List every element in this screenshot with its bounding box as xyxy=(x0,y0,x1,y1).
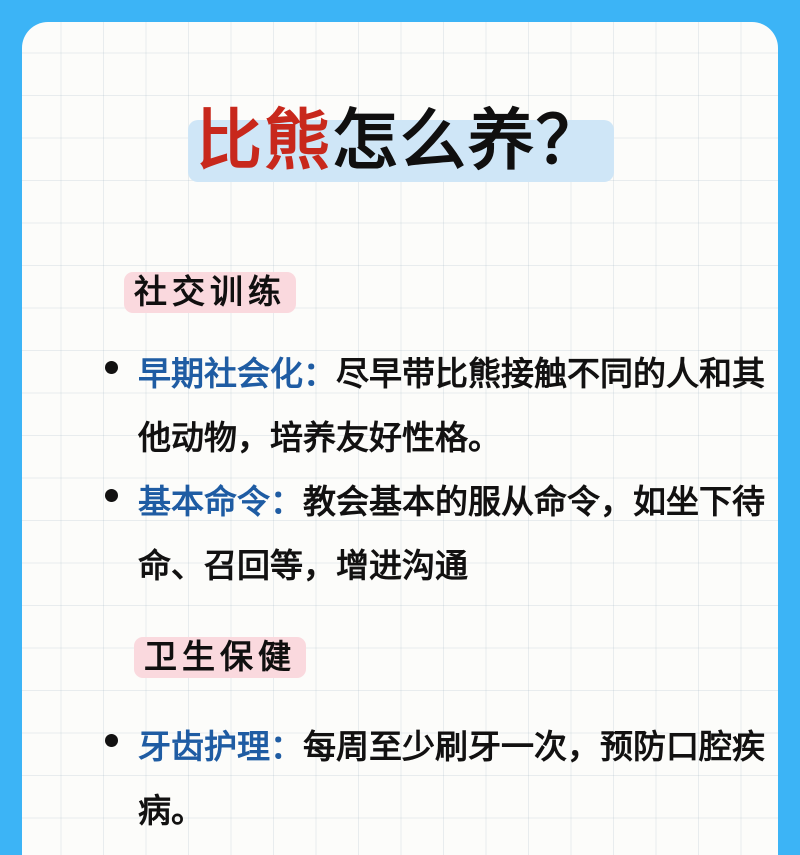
poster-root: 比熊怎么养？ 社交训练 早期社会化：尽早带比熊接触不同的人和其他动物，培养友好性… xyxy=(0,0,800,855)
section-header-hygiene-health: 卫生保健 xyxy=(144,635,296,679)
list-item: 基本命令：教会基本的服从命令，如坐下待命、召回等，增进沟通 xyxy=(102,470,778,598)
list-item-body: 牙齿护理：每周至少刷牙一次，预防口腔疾病。 xyxy=(138,715,778,843)
title-text: 比熊怎么养？ xyxy=(196,103,604,177)
page-title: 比熊怎么养？ xyxy=(22,94,778,186)
list-item: 早期社会化：尽早带比熊接触不同的人和其他动物，培养友好性格。 xyxy=(102,342,778,470)
list-item: 牙齿护理：每周至少刷牙一次，预防口腔疾病。 xyxy=(102,715,778,843)
section-header-wrapper: 卫生保健 xyxy=(144,635,296,679)
list-item: 定期体检：每年至少做一次全面体检，接 xyxy=(102,843,778,855)
section-header-social-training: 社交训练 xyxy=(134,270,286,314)
list-item-term: 早期社会化： xyxy=(138,355,336,392)
list-item-term: 牙齿护理： xyxy=(138,728,303,765)
section-header-wrapper: 社交训练 xyxy=(134,270,286,314)
title-black-part: 怎么养？ xyxy=(332,103,604,177)
list-item-term: 基本命令： xyxy=(138,483,303,520)
title-wrapper: 比熊怎么养？ xyxy=(196,94,604,186)
bullet-dot-icon xyxy=(105,734,118,747)
notepaper-card: 比熊怎么养？ 社交训练 早期社会化：尽早带比熊接触不同的人和其他动物，培养友好性… xyxy=(22,22,778,855)
bullet-dot-icon xyxy=(105,489,118,502)
title-red-part: 比熊 xyxy=(196,103,332,177)
list-item-body: 基本命令：教会基本的服从命令，如坐下待命、召回等，增进沟通 xyxy=(138,470,778,598)
bullet-dot-icon xyxy=(105,361,118,374)
list-item-body: 早期社会化：尽早带比熊接触不同的人和其他动物，培养友好性格。 xyxy=(138,342,778,470)
list-item-body: 定期体检：每年至少做一次全面体检，接 xyxy=(138,843,778,855)
section-header-label: 卫生保健 xyxy=(144,638,296,675)
section-header-label: 社交训练 xyxy=(134,273,286,310)
